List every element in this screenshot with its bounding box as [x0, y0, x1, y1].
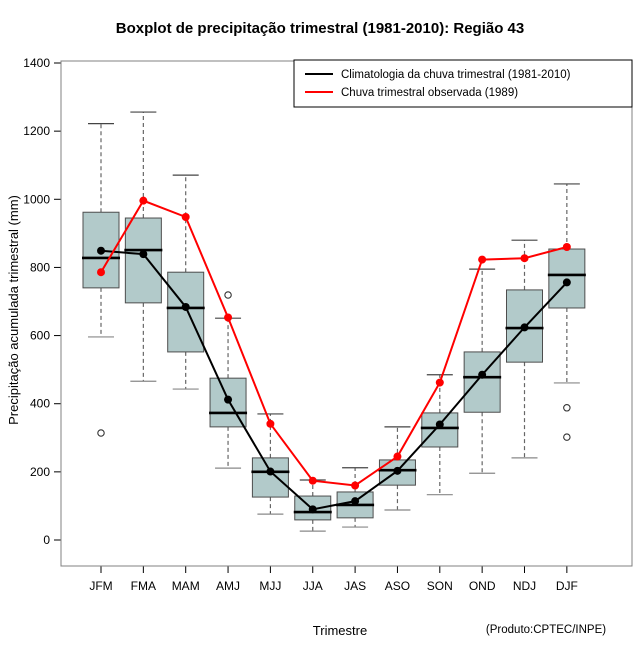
x-axis-label: Trimestre	[313, 623, 367, 638]
y-tick-label: 1000	[23, 192, 50, 206]
series-point-observada	[266, 420, 274, 428]
x-tick-label-fma: FMA	[131, 579, 156, 593]
legend-label-climatologia: Climatologia da chuva trimestral (1981-2…	[341, 69, 571, 81]
series-point-observada	[182, 213, 190, 221]
series-point-observada	[351, 481, 359, 489]
x-tick-label-jja: JJA	[303, 579, 323, 593]
x-tick-label-jfm: JFM	[89, 579, 112, 593]
x-tick-label-djf: DJF	[556, 579, 578, 593]
series-point-climatologia	[224, 396, 232, 404]
series-point-climatologia	[139, 250, 147, 258]
series-point-observada	[139, 197, 147, 205]
legend-box	[294, 60, 632, 107]
box-iqr	[125, 218, 161, 303]
y-tick-label: 0	[43, 533, 50, 547]
y-tick-label: 800	[30, 260, 50, 274]
y-axis-label: Precipitação acumulada trimestral (mm)	[6, 195, 21, 425]
x-tick-label-ndj: NDJ	[513, 579, 536, 593]
x-tick-label-mam: MAM	[172, 579, 200, 593]
series-point-observada	[224, 314, 232, 322]
y-tick-label: 1200	[23, 124, 50, 138]
y-tick-label: 1400	[23, 56, 50, 70]
series-point-climatologia	[97, 247, 105, 255]
series-point-climatologia	[436, 420, 444, 428]
series-point-observada	[563, 243, 571, 251]
series-point-climatologia	[563, 278, 571, 286]
y-tick-label: 400	[30, 397, 50, 411]
series-point-climatologia	[521, 323, 529, 331]
legend: Climatologia da chuva trimestral (1981-2…	[294, 60, 632, 107]
chart-canvas: Boxplot de precipitação trimestral (1981…	[0, 0, 640, 660]
series-point-observada	[478, 256, 486, 264]
series-point-climatologia	[182, 303, 190, 311]
boxplot-figure: Boxplot de precipitação trimestral (1981…	[0, 0, 640, 660]
page-title: Boxplot de precipitação trimestral (1981…	[116, 20, 524, 37]
series-point-climatologia	[266, 468, 274, 476]
box-iqr	[422, 413, 458, 447]
series-point-observada	[393, 453, 401, 461]
series-point-climatologia	[478, 371, 486, 379]
x-tick-label-ond: OND	[469, 579, 496, 593]
series-point-climatologia	[393, 467, 401, 475]
x-tick-label-son: SON	[427, 579, 453, 593]
producer-annotation: (Produto:CPTEC/INPE)	[486, 624, 606, 636]
x-tick-label-amj: AMJ	[216, 579, 240, 593]
legend-label-observada: Chuva trimestral observada (1989)	[341, 87, 518, 99]
x-tick-label-jas: JAS	[344, 579, 366, 593]
x-tick-label-aso: ASO	[385, 579, 410, 593]
box-iqr	[168, 272, 204, 352]
y-tick-label: 200	[30, 465, 50, 479]
x-tick-label-mjj: MJJ	[259, 579, 281, 593]
series-point-observada	[309, 477, 317, 485]
series-point-observada	[97, 268, 105, 276]
series-point-climatologia	[309, 505, 317, 513]
box-iqr	[252, 458, 288, 497]
series-point-climatologia	[351, 497, 359, 505]
y-tick-label: 600	[30, 329, 50, 343]
series-point-observada	[436, 379, 444, 387]
series-point-observada	[521, 254, 529, 262]
